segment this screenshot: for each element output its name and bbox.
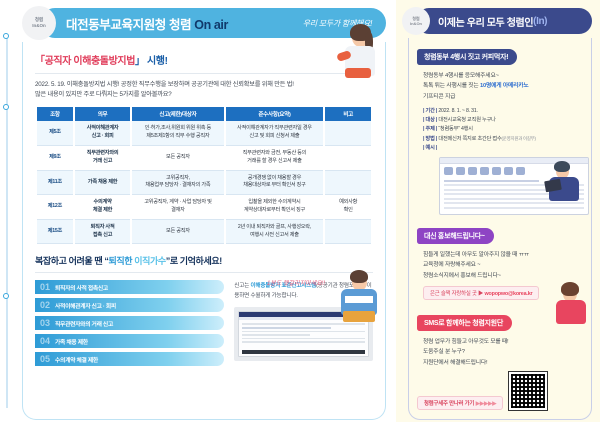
table-cell-target: 고위공직자, 계약 · 사업 담당자 및결재자 bbox=[132, 195, 223, 220]
table-cell-target: 고위공직자,채용업무 담당자 · 결재자의 가족 bbox=[132, 171, 223, 196]
event-meta-value: “청렴동부” 4행시 bbox=[438, 126, 472, 132]
table-cell-article: 제11조 bbox=[37, 171, 73, 196]
sms-line2: 도움주실 분 누구? bbox=[423, 347, 583, 357]
left-content-card: 「공직자 이해충돌방지법」 시행! 2022. 5. 19. 이해충돌방지법 시… bbox=[22, 42, 386, 420]
table-cell-article: 제9조 bbox=[37, 146, 73, 171]
promo-line2: 교육청에 자랑해주세요 ~ bbox=[423, 260, 583, 270]
table-header-duty: 의무 bbox=[75, 107, 130, 121]
character-cheering bbox=[321, 18, 377, 82]
note-pre: 신고는 bbox=[234, 283, 250, 289]
left-bracket-line bbox=[6, 36, 8, 408]
step-item: 05수의계약 체결 제한 bbox=[35, 352, 224, 366]
table-cell-note: 예외사항확인 bbox=[325, 195, 371, 220]
memo-prefix: 복잡하고 어려울 땐 “ bbox=[35, 256, 108, 266]
messenger-icon-2 bbox=[456, 167, 465, 175]
table-cell-note bbox=[325, 146, 371, 171]
messenger-icon-5 bbox=[492, 167, 501, 175]
character-support bbox=[547, 284, 589, 324]
steps-list: 01퇴직자의 사적 접촉신고02사적이해관계자 신고 · 회피03직무관련자와의… bbox=[35, 280, 224, 370]
right-header-title-light: (In) bbox=[533, 16, 547, 27]
step-item: 03직무관련자와의 거래 신고 bbox=[35, 316, 224, 330]
event-tag: 청렴동부 4행시 짓고 커피먹자! bbox=[417, 49, 517, 65]
event-meta-key: | 방법 | bbox=[423, 136, 438, 142]
step-item: 02사적이해관계자 신고 · 회피 bbox=[35, 298, 224, 312]
table-cell-duty: 퇴직자 사적접촉 신고 bbox=[75, 220, 130, 245]
right-header-title: 이제는 우리 모두 청렴인 bbox=[438, 14, 533, 29]
table-cell-rule: 입찰을 제외한 수의계약시계약상대자로부터 확인서 징구 bbox=[226, 195, 324, 220]
right-header-pill: 이제는 우리 모두 청렴인(In) bbox=[416, 8, 592, 34]
step-label: 사적이해관계자 신고 · 회피 bbox=[55, 301, 116, 310]
qr-code-icon[interactable] bbox=[509, 372, 547, 410]
sms-cta-label: 청렴구세주 만나러 가기 bbox=[424, 401, 474, 407]
messenger-icon-1 bbox=[444, 167, 453, 175]
table-cell-note bbox=[325, 121, 371, 146]
sms-cta-row: 청렴구세주 만나러 가기 ▶▶▶▶▶ bbox=[417, 372, 583, 410]
sms-tag: SMS로 함께하는 청렴지원단 bbox=[417, 315, 512, 331]
table-cell-rule: 직무관련자와 금전, 부동산 등의거래를 할 경우 신고서 제출 bbox=[226, 146, 324, 171]
messenger-icon-6 bbox=[504, 167, 513, 175]
event-line2: 톡톡 튀는 사행시를 짓는 10명에게 아메리카노 bbox=[423, 81, 583, 91]
infographic-page: 청렴 In&On 대전동부교육지원청 청렴 On air 우리 모두가 함께해요… bbox=[0, 0, 600, 422]
memo-highlight-2: 이직가수 bbox=[132, 256, 166, 266]
table-row: 제9조직무관련자와의거래 신고모든 공직자직무관련자와 금전, 부동산 등의거래… bbox=[37, 146, 371, 171]
table-cell-article: 제5조 bbox=[37, 121, 73, 146]
obligations-table: 조항 의무 신고(제한)대상자 준수사항(요약) 비고 제5조사적이해관계자신고… bbox=[35, 107, 373, 244]
event-meta-value: 2022. 8. 1. ~ 8. 31. bbox=[438, 108, 477, 114]
step-number: 01 bbox=[35, 282, 55, 292]
event-line2-highlight: 10명에게 아메리카노 bbox=[480, 83, 529, 89]
event-description: 청렴동부 4행시를 응모해주세요~ 톡톡 튀는 사행시를 짓는 10명에게 아메… bbox=[417, 71, 583, 102]
step-label: 직무관련자와의 거래 신고 bbox=[55, 319, 113, 328]
right-brand-badge-line2: In&On bbox=[410, 21, 422, 26]
step-item: 04가족 채용 제한 bbox=[35, 334, 224, 348]
event-meta-key: | 기간 | bbox=[423, 108, 438, 114]
table-cell-target: 모든 공직자 bbox=[132, 146, 223, 171]
table-cell-article: 제12조 bbox=[37, 195, 73, 220]
section-subtitle-line2: 많은 내용이 있지만 주로 다뤄지는 5가지를 알아볼까요? bbox=[35, 90, 373, 100]
promo-line1: 힘들게 일했는데 아무도 알아주지 않을 때 ㅠㅠ bbox=[423, 250, 583, 260]
event-meta-row: | 기간 | 2022. 8. 1. ~ 8. 31. bbox=[423, 107, 583, 116]
sms-cta-button[interactable]: 청렴구세주 만나러 가기 ▶▶▶▶▶ bbox=[417, 396, 503, 410]
table-cell-target: 모든 공직자 bbox=[132, 220, 223, 245]
character-promo bbox=[539, 164, 583, 208]
table-header-note: 비고 bbox=[325, 107, 371, 121]
right-header: 청렴 In&On 이제는 우리 모두 청렴인(In) bbox=[402, 8, 592, 34]
promo-email-label: 은근 슬쩍 자랑하실 곳 ▶ bbox=[430, 291, 485, 297]
step-item: 01퇴직자의 사적 접촉신고 bbox=[35, 280, 224, 294]
sms-description: 청렴 업무가 힘들고 아무것도 모를 때! 도움주실 분 누구? 지원단에서 해… bbox=[417, 337, 583, 368]
promo-tag: 대신 홍보해드립니다~ bbox=[417, 228, 494, 244]
event-line1: 청렴동부 4행시를 응모해주세요~ bbox=[423, 71, 583, 81]
step-label: 퇴직자의 사적 접촉신고 bbox=[55, 283, 108, 292]
event-meta-value: 대전시교육청 교직원 누구나 bbox=[438, 117, 495, 123]
memo-script: 1분도 헷갈리지마세요!! bbox=[267, 278, 325, 287]
table-header-rule: 준수사항(요약) bbox=[226, 107, 324, 121]
event-meta-row: | 방법 | 대전메신저 쪽지로 초간단 접수(운영지원과 이길무) bbox=[423, 135, 583, 144]
promo-email-pill[interactable]: 은근 슬쩍 자랑하실 곳 ▶ wopopwo@korea.kr bbox=[423, 286, 539, 300]
section-title-text: 공직자 이해충돌방지법 bbox=[45, 56, 135, 67]
left-panel: 청렴 In&On 대전동부교육지원청 청렴 On air 우리 모두가 함께해요… bbox=[0, 0, 396, 422]
right-panel: 청렴 In&On 이제는 우리 모두 청렴인(In) 청렴동부 4행시 짓고 커… bbox=[396, 0, 600, 422]
event-line3: 기프티콘 지급 bbox=[423, 92, 583, 102]
event-meta-key: | 주제 | bbox=[423, 126, 438, 132]
table-cell-target: 인·허가,조사,위원회 위원 위촉 등제5조제1항의 직무 수행 공직자 bbox=[132, 121, 223, 146]
section-title-close: 」 시행! bbox=[135, 56, 168, 67]
table-cell-duty: 가족 채용 제한 bbox=[75, 171, 130, 196]
step-label: 수의계약 체결 제한 bbox=[55, 355, 98, 364]
table-cell-rule: 공개경쟁 없이 채용할 경우채용대상자로 부터 확인서 징구 bbox=[226, 171, 324, 196]
memo-heading: 복잡하고 어려울 땐 “퇴직한 이직가수”로 기억하세요! bbox=[35, 254, 373, 267]
step-label: 가족 채용 제한 bbox=[55, 337, 88, 346]
brand-badge: 청렴 In&On bbox=[22, 6, 56, 40]
table-cell-note bbox=[325, 171, 371, 196]
table-header-target: 신고(제한)대상자 bbox=[132, 107, 223, 121]
bracket-dot-bottom bbox=[3, 293, 9, 299]
bracket-dot-top bbox=[3, 33, 9, 39]
promo-description: 힘들게 일했는데 아무도 알아주지 않을 때 ㅠㅠ 교육청에 자랑해주세요 ~ … bbox=[417, 250, 583, 281]
right-brand-badge: 청렴 In&On bbox=[402, 7, 430, 35]
portal-content-lines bbox=[239, 320, 368, 348]
left-header-title: 대전동부교육지원청 청렴 On air bbox=[66, 14, 228, 33]
bracket-dot-mid bbox=[3, 104, 9, 110]
character-thinking bbox=[331, 270, 379, 322]
table-header-article: 조항 bbox=[37, 107, 73, 121]
sms-cta-arrows: ▶▶▶▶▶ bbox=[474, 401, 496, 407]
memo-divider bbox=[35, 272, 373, 273]
portal-footer bbox=[242, 350, 365, 354]
event-meta-key: | 예시 | bbox=[423, 145, 437, 151]
messenger-icon-7 bbox=[516, 167, 525, 175]
event-meta-note: (운영지원과 이길무) bbox=[502, 136, 536, 141]
table-cell-duty: 수의계약체결 제한 bbox=[75, 195, 130, 220]
brand-badge-line2: In&On bbox=[32, 23, 46, 29]
promo-email-address: wopopwo@korea.kr bbox=[485, 291, 533, 297]
step-number: 03 bbox=[35, 318, 55, 328]
messenger-icon-4 bbox=[480, 167, 489, 175]
table-row: 제5조사적이해관계자신고 · 회피인·허가,조사,위원회 위원 위촉 등제5조제… bbox=[37, 121, 371, 146]
table-header-row: 조항 의무 신고(제한)대상자 준수사항(요약) 비고 bbox=[37, 107, 371, 121]
event-line2-pre: 톡톡 튀는 사행시를 짓는 bbox=[423, 83, 480, 89]
table-cell-duty: 직무관련자와의거래 신고 bbox=[75, 146, 130, 171]
memo-highlight-1: 퇴직한 bbox=[108, 256, 132, 266]
event-meta-key: | 대상 | bbox=[423, 117, 438, 123]
event-meta-row: | 주제 | “청렴동부” 4행시 bbox=[423, 125, 583, 134]
event-meta-list: | 기간 | 2022. 8. 1. ~ 8. 31.| 대상 | 대전시교육청… bbox=[417, 107, 583, 152]
step-number: 02 bbox=[35, 300, 55, 310]
step-number: 04 bbox=[35, 336, 55, 346]
table-cell-article: 제15조 bbox=[37, 220, 73, 245]
promo-line3: 청렴소식지에서 홍보해 드립니다~ bbox=[423, 271, 583, 281]
left-header-title-accent: On air bbox=[194, 18, 228, 32]
messenger-icon-3 bbox=[468, 167, 477, 175]
memo-suffix: ”로 기억하세요! bbox=[166, 256, 222, 266]
table-cell-rule: 사적이해관계자가 직무관련자일 경우신고 및 회피 신청서 제출 bbox=[226, 121, 324, 146]
section-title-open: 「 bbox=[35, 56, 45, 67]
memo-lower-area: 01퇴직자의 사적 접촉신고02사적이해관계자 신고 · 회피03직무관련자와의… bbox=[35, 280, 373, 370]
table-cell-rule: 2년 이내 퇴직자와 골프, 사행성오락,여행시 사전 신고서 제출 bbox=[226, 220, 324, 245]
sms-line1: 청렴 업무가 힘들고 아무것도 모를 때! bbox=[423, 337, 583, 347]
table-row: 제11조가족 채용 제한고위공직자,채용업무 담당자 · 결재자의 가족공개경쟁… bbox=[37, 171, 371, 196]
table-row: 제15조퇴직자 사적접촉 신고모든 공직자2년 이내 퇴직자와 골프, 사행성오… bbox=[37, 220, 371, 245]
event-meta-value: 대전메신저 쪽지로 초간단 접수 bbox=[438, 136, 501, 142]
table-row: 제12조수의계약체결 제한고위공직자, 계약 · 사업 담당자 및결재자입찰을 … bbox=[37, 195, 371, 220]
step-number: 05 bbox=[35, 354, 55, 364]
left-header-title-main: 대전동부교육지원청 청렴 bbox=[66, 18, 194, 32]
table-cell-note bbox=[325, 220, 371, 245]
right-content-card: 청렴동부 4행시 짓고 커피먹자! 청렴동부 4행시를 응모해주세요~ 톡톡 튀… bbox=[408, 38, 592, 420]
event-meta-row: | 예시 | bbox=[423, 144, 583, 153]
event-meta-row: | 대상 | 대전시교육청 교직원 누구나 bbox=[423, 116, 583, 125]
table-cell-duty: 사적이해관계자신고 · 회피 bbox=[75, 121, 130, 146]
sms-line3: 지원단에서 해결해드립니다! bbox=[423, 358, 583, 368]
